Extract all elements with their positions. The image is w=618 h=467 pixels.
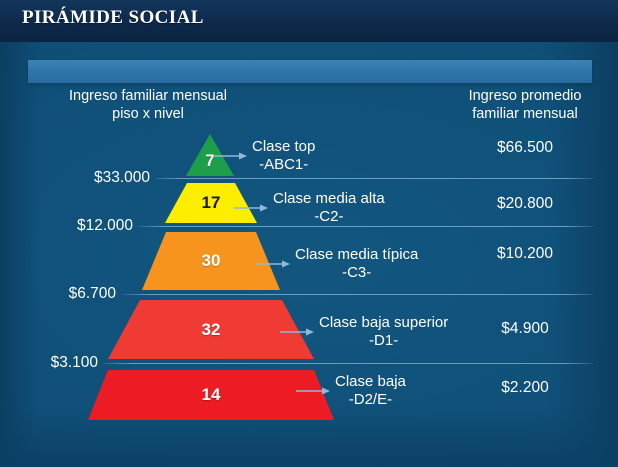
average-income-d1: $4.900: [440, 320, 610, 338]
pyramid-tier-d1-value: 32: [202, 320, 221, 340]
average-income-d2e: $2.200: [440, 379, 610, 397]
callout-c3-text: Clase media típica -C3-: [295, 246, 418, 282]
callout-d2e-code: -D2/E-: [335, 391, 406, 409]
pyramid-tier-c2-value: 17: [202, 193, 221, 213]
callout-abc1-text: Clase top -ABC1-: [252, 138, 315, 174]
callout-d2e-text: Clase baja -D2/E-: [335, 373, 406, 409]
callout-c3-label: Clase media típica: [295, 246, 418, 263]
callout-abc1-label: Clase top: [252, 138, 315, 155]
arrow-right-icon: [280, 327, 314, 337]
average-income-c2: $20.800: [440, 195, 610, 213]
callout-abc1-code: -ABC1-: [252, 156, 315, 174]
arrow-right-icon: [234, 203, 268, 213]
pyramid-tier-d2e-value: 14: [202, 385, 221, 405]
page-title: PIRÁMIDE SOCIAL: [22, 7, 204, 29]
average-income-abc1: $66.500: [440, 139, 610, 157]
arrow-right-icon: [213, 151, 247, 161]
callout-d1-code: -D1-: [319, 332, 448, 350]
floor-income-c3: $6.700: [0, 285, 116, 303]
callout-c2-text: Clase media alta -C2-: [273, 190, 385, 226]
floor-income-abc1: $33.000: [20, 169, 150, 187]
callout-d1-label: Clase baja superior: [319, 314, 448, 331]
average-income-c3: $10.200: [440, 245, 610, 263]
callout-c3: Clase media típica -C3-: [256, 246, 418, 282]
callout-d1: Clase baja superior -D1-: [280, 314, 448, 350]
callout-c3-code: -C3-: [295, 264, 418, 282]
callout-c2-label: Clase media alta: [273, 190, 385, 207]
callout-c2-code: -C2-: [273, 208, 385, 226]
callout-c2: Clase media alta -C2-: [234, 190, 385, 226]
pyramid-tier-c3-value: 30: [202, 251, 221, 271]
callout-d1-text: Clase baja superior -D1-: [319, 314, 448, 350]
header-bar: PIRÁMIDE SOCIAL: [0, 0, 618, 42]
arrow-right-icon: [256, 259, 290, 269]
floor-income-c2: $12.000: [5, 217, 133, 235]
callout-abc1: Clase top -ABC1-: [213, 138, 315, 174]
callout-d2e-label: Clase baja: [335, 373, 406, 390]
arrow-right-icon: [296, 386, 330, 396]
callout-d2e: Clase baja -D2/E-: [296, 373, 406, 409]
floor-income-d1: $3.100: [0, 354, 98, 372]
infographic-canvas: PIRÁMIDE SOCIAL Ingreso familiar mensual…: [0, 0, 618, 467]
